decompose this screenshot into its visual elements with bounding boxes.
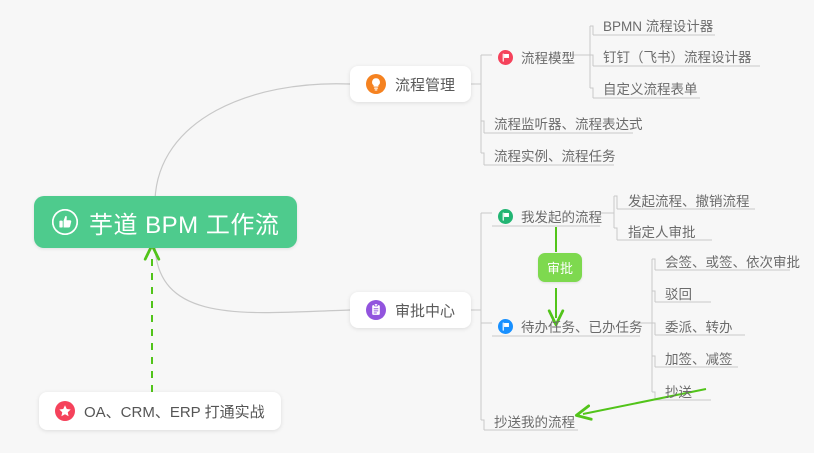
- leaf-start-cancel-process[interactable]: 发起流程、撤销流程: [622, 187, 756, 215]
- leaf-custom-process-form[interactable]: 自定义流程表单: [597, 75, 704, 103]
- leaf-label: 会签、或签、依次审批: [665, 251, 800, 271]
- leaf-process-listener-expression[interactable]: 流程监听器、流程表达式: [488, 110, 649, 138]
- leaf-cc-to-me-process[interactable]: 抄送我的流程: [488, 408, 581, 436]
- mindmap-canvas: 芋道 BPM 工作流 流程管理 流程模型 BPMN 流程设计器 钉钉（飞书）流程: [0, 0, 814, 453]
- clipboard-icon: [366, 300, 386, 320]
- leaf-add-remove-sign[interactable]: 加签、减签: [659, 345, 739, 373]
- leaf-bpmn-designer[interactable]: BPMN 流程设计器: [597, 12, 719, 40]
- leaf-assignee-approval[interactable]: 指定人审批: [622, 218, 702, 246]
- leaf-label: 加签、减签: [665, 348, 733, 368]
- leaf-process-instance-task[interactable]: 流程实例、流程任务: [488, 142, 622, 170]
- leaf-label: 待办任务、已办任务: [521, 316, 643, 336]
- leaf-label: 抄送: [665, 381, 692, 401]
- leaf-label: 流程监听器、流程表达式: [494, 113, 643, 133]
- branch-label: 审批中心: [395, 300, 455, 321]
- leaf-label: BPMN 流程设计器: [603, 15, 713, 35]
- branch-label: 流程管理: [395, 74, 455, 95]
- leaf-my-initiated-process[interactable]: 我发起的流程: [492, 203, 608, 231]
- root-node[interactable]: 芋道 BPM 工作流: [34, 196, 297, 248]
- leaf-label: 流程实例、流程任务: [494, 145, 616, 165]
- branch-process-management[interactable]: 流程管理: [350, 66, 471, 102]
- leaf-label: 委派、转办: [665, 316, 733, 336]
- leaf-label: 自定义流程表单: [603, 78, 698, 98]
- integration-callout-label: OA、CRM、ERP 打通实战: [84, 401, 265, 422]
- leaf-label: 流程模型: [521, 47, 575, 67]
- leaf-reject[interactable]: 驳回: [659, 280, 698, 308]
- leaf-label: 抄送我的流程: [494, 411, 575, 431]
- leaf-label: 指定人审批: [628, 221, 696, 241]
- branch-approval-center[interactable]: 审批中心: [350, 292, 471, 328]
- leaf-dingtalk-feishu-designer[interactable]: 钉钉（飞书）流程设计器: [597, 43, 758, 71]
- root-label: 芋道 BPM 工作流: [89, 205, 279, 240]
- flag-icon: [498, 319, 513, 334]
- leaf-delegate-transfer[interactable]: 委派、转办: [659, 313, 739, 341]
- approval-badge[interactable]: 审批: [538, 253, 582, 282]
- leaf-cc[interactable]: 抄送: [659, 378, 698, 406]
- leaf-process-model[interactable]: 流程模型: [492, 44, 581, 72]
- flag-icon: [498, 50, 513, 65]
- leaf-label: 我发起的流程: [521, 206, 602, 226]
- leaf-label: 驳回: [665, 283, 692, 303]
- leaf-countersign-or-sequential[interactable]: 会签、或签、依次审批: [659, 248, 806, 276]
- leaf-label: 发起流程、撤销流程: [628, 190, 750, 210]
- integration-callout-node[interactable]: OA、CRM、ERP 打通实战: [39, 392, 281, 430]
- lightbulb-icon: [366, 74, 386, 94]
- leaf-label: 钉钉（飞书）流程设计器: [603, 46, 752, 66]
- approval-badge-label: 审批: [547, 261, 573, 276]
- leaf-todo-done-tasks[interactable]: 待办任务、已办任务: [492, 313, 649, 341]
- flag-icon: [498, 209, 513, 224]
- thumbs-up-icon: [52, 209, 78, 235]
- star-icon: [55, 401, 75, 421]
